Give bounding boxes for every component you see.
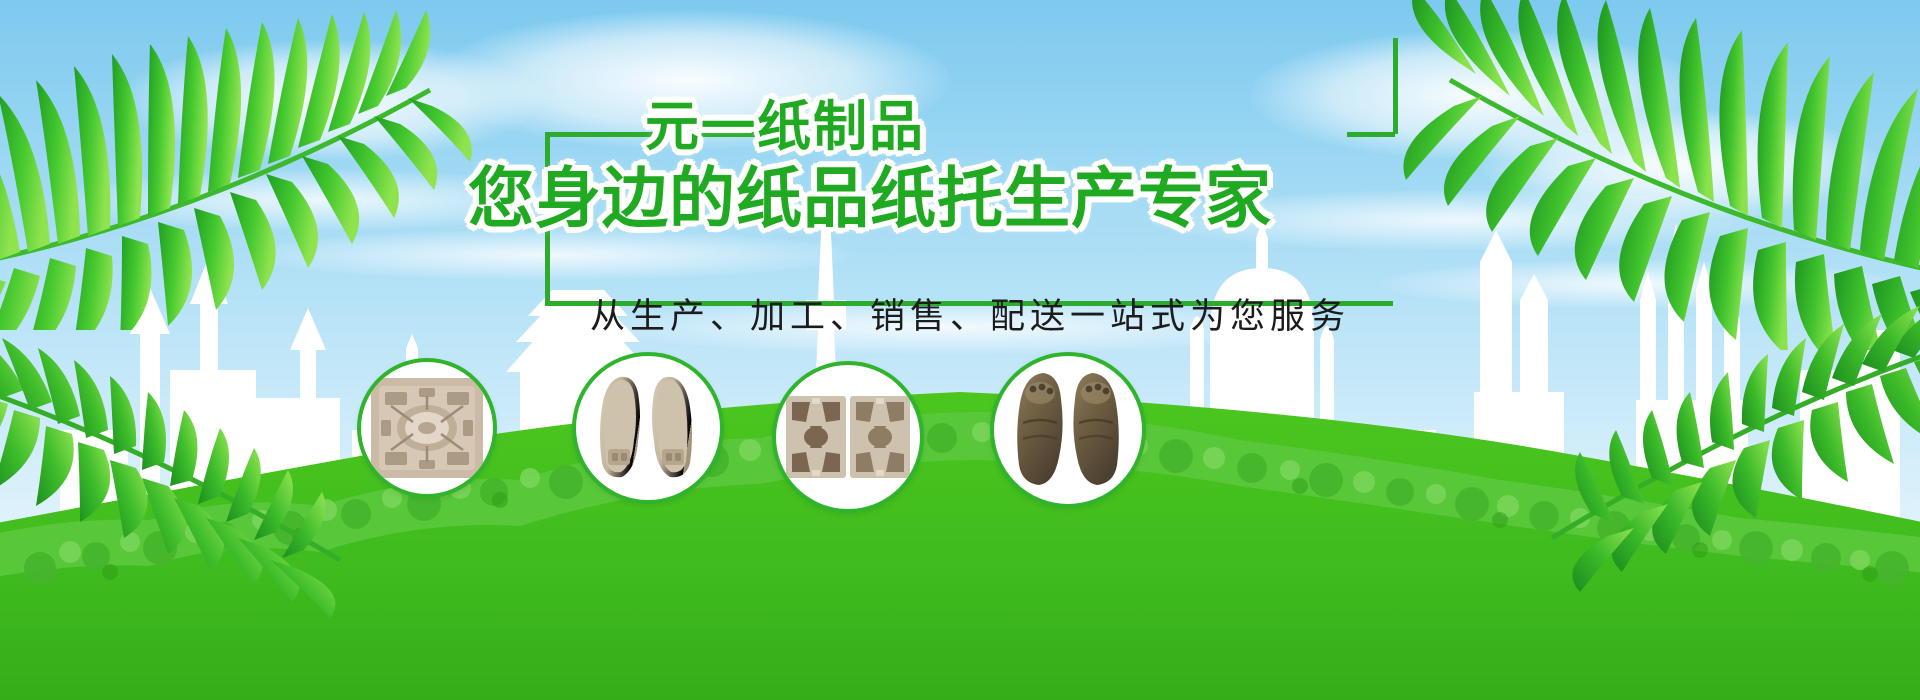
headline-line-2: 您身边的纸品纸托生产专家	[468, 145, 1272, 241]
product-circle-3[interactable]	[772, 361, 924, 513]
paper-pulp-packaging-pair-icon	[786, 396, 910, 478]
headline-block: 元一纸制品 您身边的纸品纸托生产专家	[545, 88, 1395, 308]
headline-frame-rule-right	[1347, 132, 1395, 137]
promo-banner: 元一纸制品 您身边的纸品纸托生产专家 从生产、加工、销售、配送一站式为您服务	[0, 0, 1920, 700]
banner-subtitle: 从生产、加工、销售、配送一站式为您服务	[470, 288, 1470, 339]
paper-pulp-tray-square-icon	[369, 376, 485, 480]
product-circle-4[interactable]	[990, 352, 1146, 508]
product-circle-2[interactable]	[572, 352, 724, 504]
product-circle-1[interactable]	[357, 358, 497, 498]
paper-pulp-shoe-trees-dark-icon	[1009, 367, 1127, 493]
paper-pulp-shoe-inserts-pair-icon	[590, 367, 706, 489]
